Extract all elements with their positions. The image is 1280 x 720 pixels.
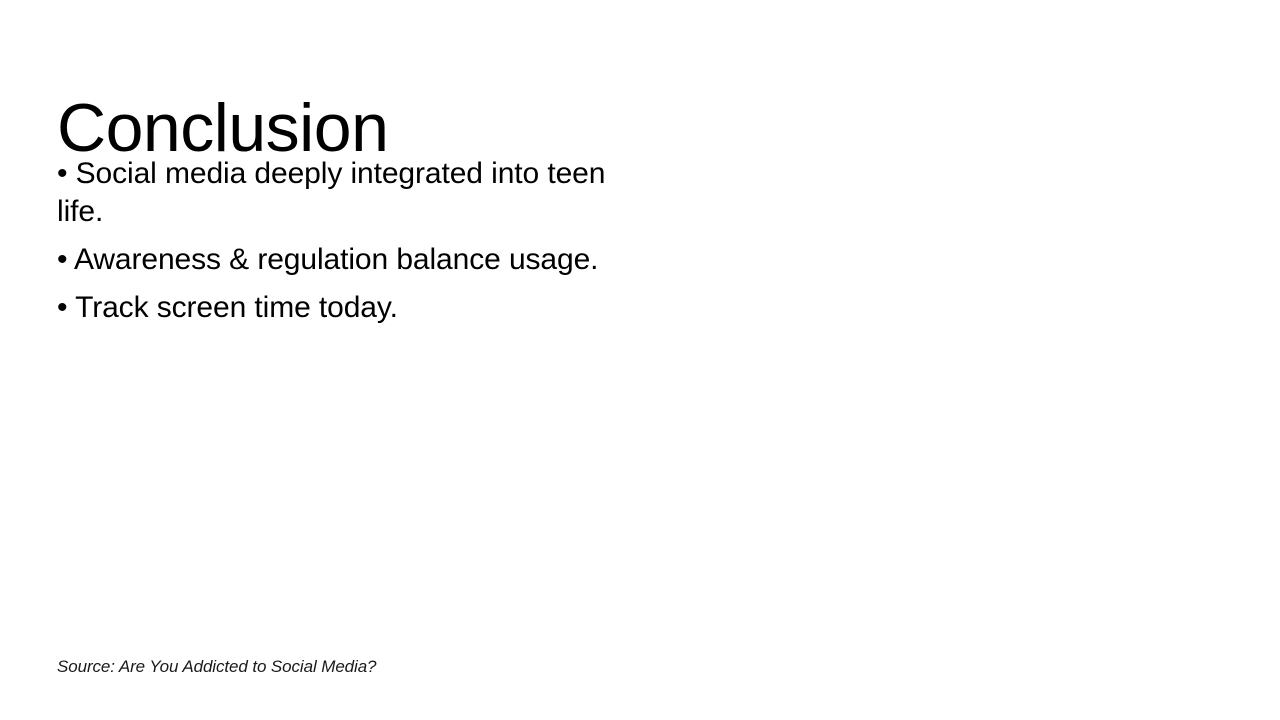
page-title: Conclusion [57, 94, 388, 162]
presentation-slide: Conclusion • Social media deeply integra… [0, 0, 1280, 720]
list-item: • Social media deeply integrated into te… [57, 155, 617, 231]
list-item: • Track screen time today. [57, 289, 617, 327]
bullet-list: • Social media deeply integrated into te… [57, 155, 617, 327]
list-item: • Awareness & regulation balance usage. [57, 241, 617, 279]
source-citation: Source: Are You Addicted to Social Media… [57, 657, 376, 677]
